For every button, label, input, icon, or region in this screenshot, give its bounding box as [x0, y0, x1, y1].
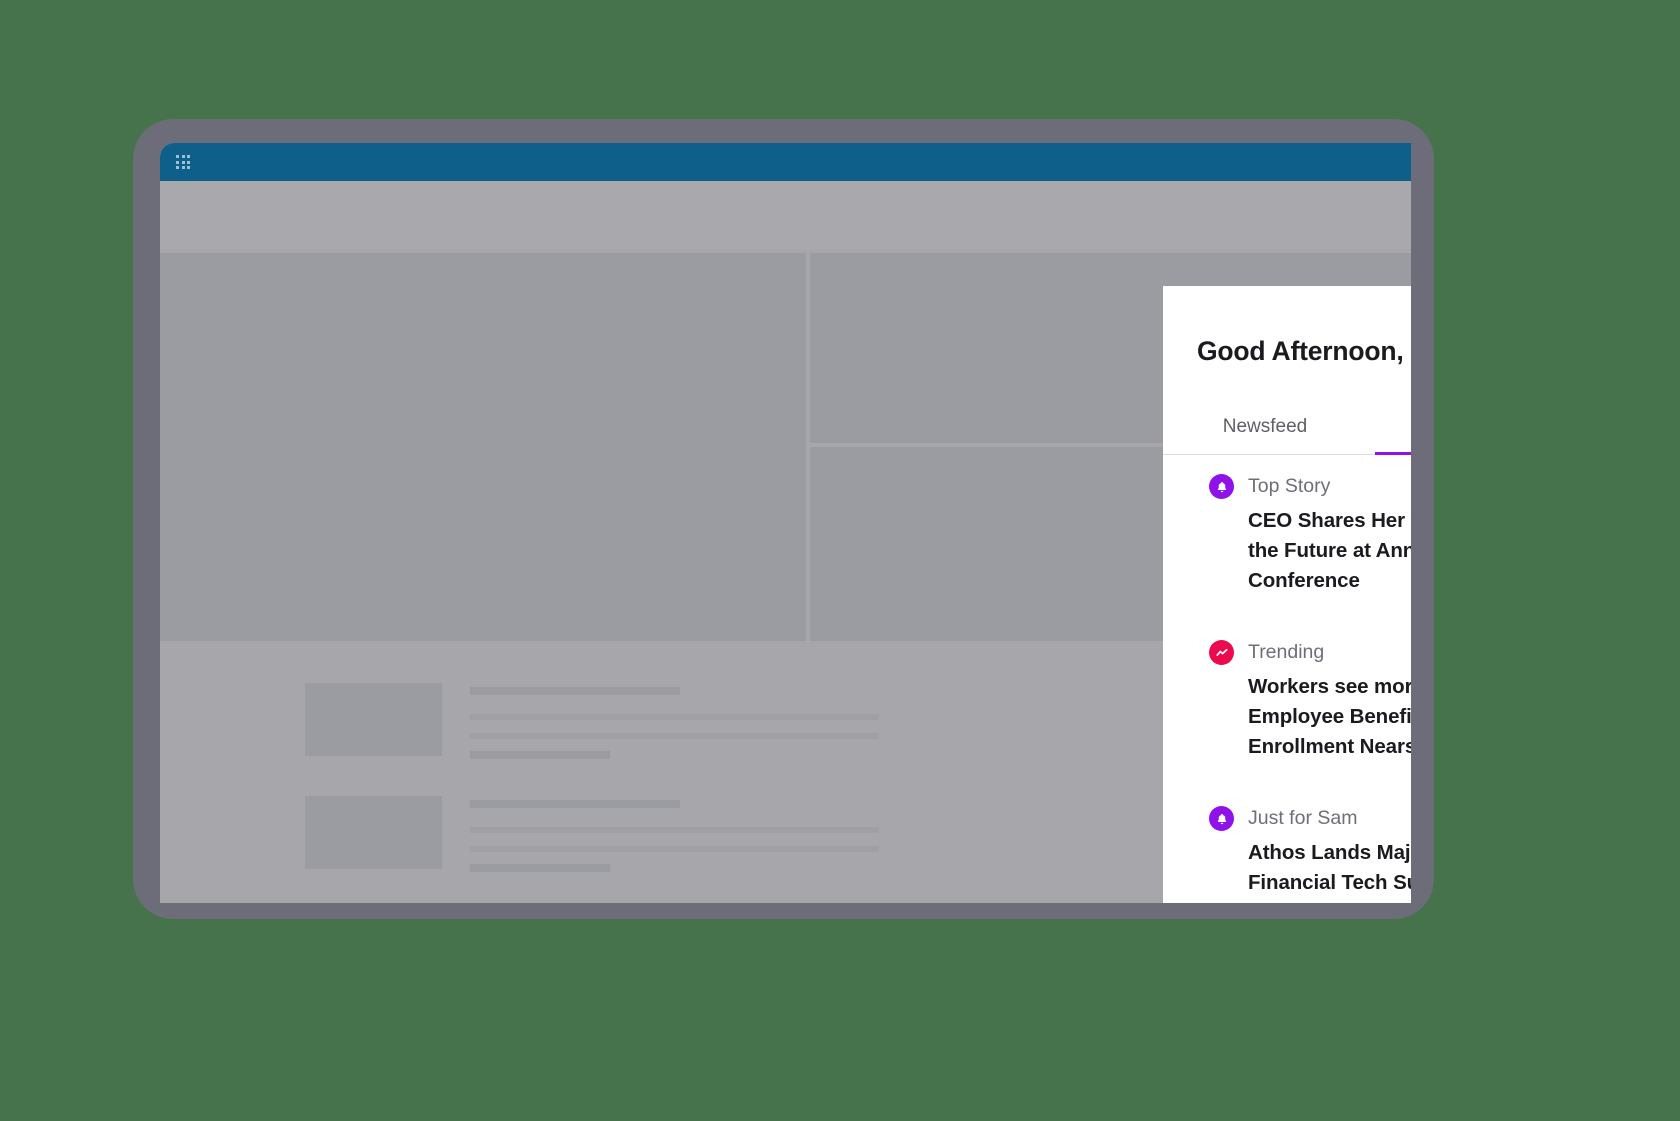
notification-item[interactable]: Top Story CEO Shares Her Vision for the … — [1163, 472, 1411, 596]
skeleton-text-line — [470, 714, 879, 720]
grid-dot — [182, 161, 185, 164]
bell-icon — [1209, 474, 1234, 499]
grid-dot — [182, 166, 185, 169]
skeleton-subheader — [160, 181, 1411, 249]
tab-notifications[interactable]: Notifications — [1367, 411, 1411, 455]
skeleton-text-line — [470, 800, 680, 808]
notification-headline: Workers see more Value in Employee Benef… — [1248, 672, 1411, 762]
grid-dot — [176, 155, 179, 158]
notification-headline: CEO Shares Her Vision for the Future at … — [1248, 506, 1411, 596]
skeleton-text-line — [470, 846, 879, 852]
notification-kicker: Trending — [1248, 638, 1411, 666]
tab-newsfeed[interactable]: Newsfeed — [1163, 411, 1367, 455]
grid-dot — [187, 161, 190, 164]
skeleton-text-line — [470, 751, 610, 759]
notification-kicker: Top Story — [1248, 472, 1411, 500]
device-screen: Good Afternoon, Sam Newsfeed Notificatio… — [160, 143, 1411, 903]
grid-dot — [187, 166, 190, 169]
grid-icon[interactable] — [176, 155, 191, 170]
notification-kicker: Just for Sam — [1248, 804, 1411, 832]
notification-item[interactable]: Just for Sam Athos Lands Major Role in F… — [1163, 804, 1411, 898]
app-header-bar — [160, 143, 1411, 181]
grid-dot — [187, 155, 190, 158]
skeleton-text-line — [470, 827, 879, 833]
grid-dot — [182, 155, 185, 158]
grid-dot — [176, 166, 179, 169]
notification-headline: Athos Lands Major Role in Financial Tech… — [1248, 838, 1411, 898]
notification-item[interactable]: Trending Workers see more Value in Emplo… — [1163, 638, 1411, 762]
panel-greeting: Good Afternoon, Sam — [1197, 336, 1411, 367]
skeleton-text-line — [470, 687, 680, 695]
bell-icon — [1209, 806, 1234, 831]
notifications-panel: Good Afternoon, Sam Newsfeed Notificatio… — [1163, 286, 1411, 903]
skeleton-thumbnail — [305, 683, 442, 756]
skeleton-hero-main — [160, 253, 806, 641]
notification-list: Top Story CEO Shares Her Vision for the … — [1163, 472, 1411, 903]
screenshot-root: Good Afternoon, Sam Newsfeed Notificatio… — [0, 0, 1680, 1121]
panel-tabs: Newsfeed Notifications — [1163, 411, 1411, 455]
skeleton-text-line — [470, 864, 610, 872]
trend-line-icon — [1209, 640, 1234, 665]
skeleton-text-line — [470, 733, 879, 739]
grid-dot — [176, 161, 179, 164]
skeleton-thumbnail — [305, 796, 442, 869]
